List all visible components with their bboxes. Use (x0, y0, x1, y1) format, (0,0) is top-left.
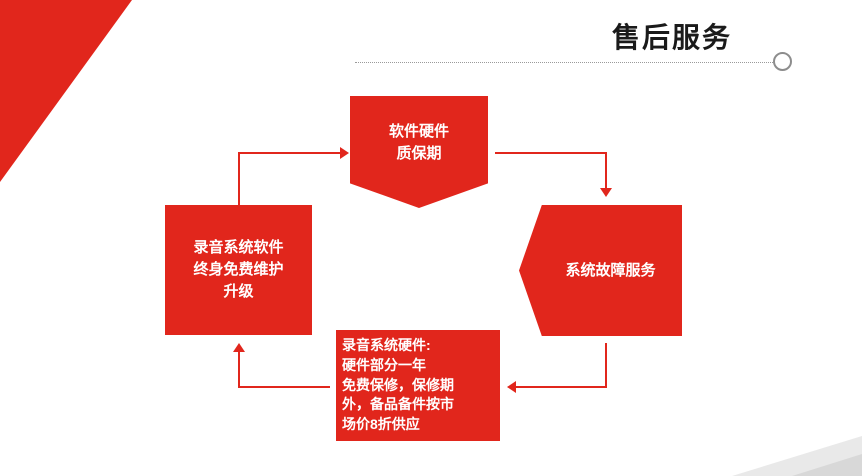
diagram-node-right-label: 系统故障服务 (565, 260, 655, 282)
diagram-node-bottom-label: 录音系统硬件: 硬件部分一年 免费保修，保修期 外，备品备件按市 场价8折供应 (342, 336, 454, 435)
slide-canvas: 售后服务 软件硬件 质保期 系统故障服务 录音系统硬件: 硬件部分一年 免费保修… (0, 0, 862, 476)
diagram-node-left[interactable]: 录音系统软件 终身免费维护 升级 (165, 205, 312, 335)
diagram-node-top[interactable]: 软件硬件 质保期 (350, 96, 488, 208)
title-divider (355, 62, 773, 63)
diagram-node-bottom[interactable]: 录音系统硬件: 硬件部分一年 免费保修，保修期 外，备品备件按市 场价8折供应 (336, 330, 500, 441)
diagram-node-left-label: 录音系统软件 终身免费维护 升级 (193, 237, 283, 302)
page-title: 售后服务 (612, 16, 732, 56)
circle-marker-icon (773, 52, 792, 71)
diagram-node-right[interactable]: 系统故障服务 (519, 205, 682, 336)
diagram-node-top-label: 软件硬件 质保期 (389, 121, 449, 165)
red-triangle-icon (0, 0, 140, 182)
